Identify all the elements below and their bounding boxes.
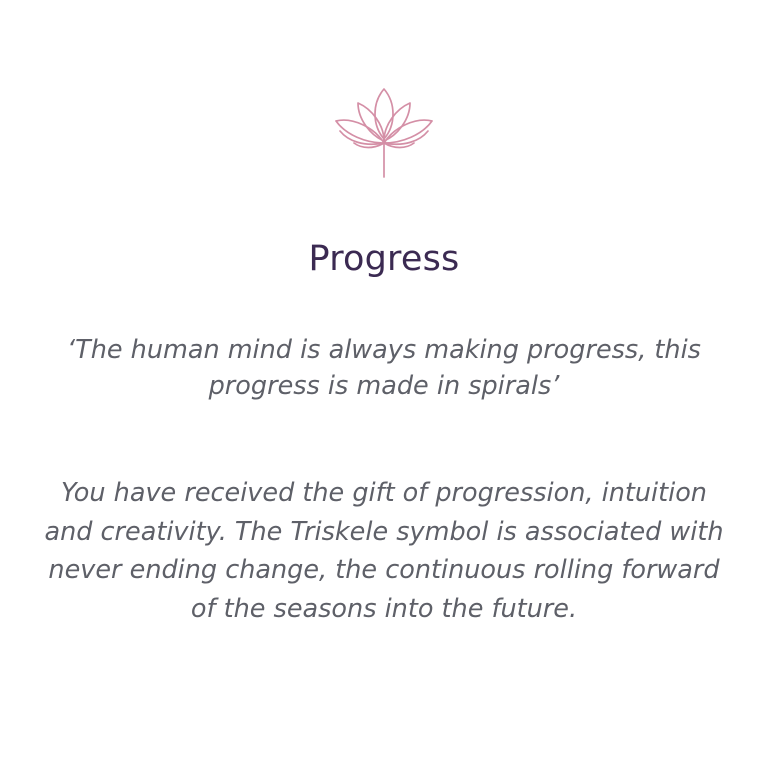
body-text: You have received the gift of progressio…	[34, 474, 734, 629]
logo	[299, 72, 469, 192]
progress-card: Progress ‘The human mind is always makin…	[0, 0, 768, 768]
page-title: Progress	[309, 240, 460, 279]
lotus-flower-line-icon	[314, 77, 454, 187]
quote-text: ‘The human mind is always making progres…	[44, 332, 724, 404]
